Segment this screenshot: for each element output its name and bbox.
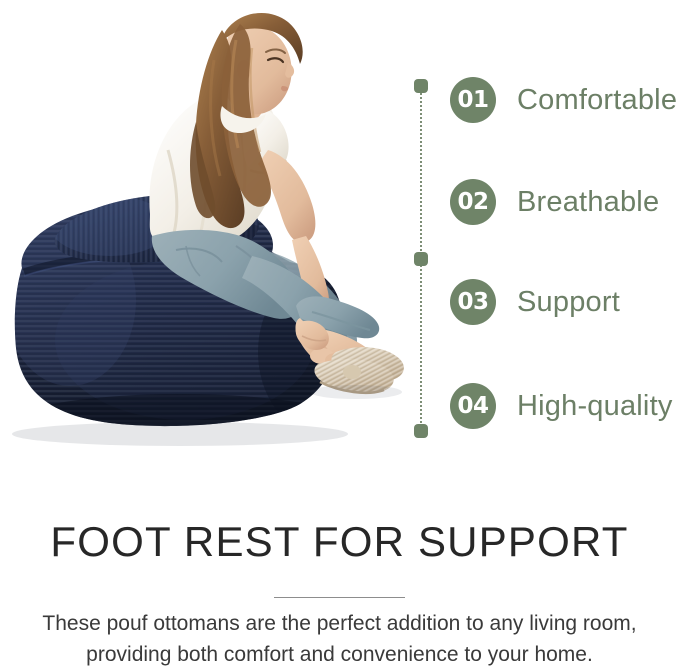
- feature-number-badge-01: 01: [450, 77, 496, 123]
- feature-item-comfortable: 01 Comfortable: [450, 76, 677, 124]
- feature-number-badge-02: 02: [450, 179, 496, 225]
- feature-label-support: Support: [517, 286, 620, 319]
- feature-label-high-quality: High-quality: [517, 390, 673, 423]
- feature-list: 01 Comfortable 02 Breathable 03 Support …: [406, 62, 679, 442]
- feature-number-02: 02: [457, 191, 488, 214]
- feature-item-breathable: 02 Breathable: [450, 178, 659, 226]
- feature-number-badge-04: 04: [450, 383, 496, 429]
- product-photo: [0, 0, 412, 455]
- feature-number-04: 04: [457, 395, 488, 418]
- description-paragraph: These pouf ottomans are the perfect addi…: [14, 608, 665, 669]
- feature-label-breathable: Breathable: [517, 186, 659, 219]
- feature-item-support: 03 Support: [450, 278, 620, 326]
- divider-rule: [274, 597, 405, 598]
- headline: FOOT REST FOR SUPPORT: [0, 518, 679, 566]
- feature-number-03: 03: [457, 291, 488, 314]
- timeline-marker-middle: [414, 252, 428, 266]
- feature-label-comfortable: Comfortable: [517, 84, 677, 117]
- timeline-marker-bottom: [414, 424, 428, 438]
- timeline-marker-top: [414, 79, 428, 93]
- feature-number-badge-03: 03: [450, 279, 496, 325]
- feature-number-01: 01: [457, 89, 488, 112]
- feature-item-high-quality: 04 High-quality: [450, 382, 673, 430]
- infographic-canvas: 01 Comfortable 02 Breathable 03 Support …: [0, 0, 679, 669]
